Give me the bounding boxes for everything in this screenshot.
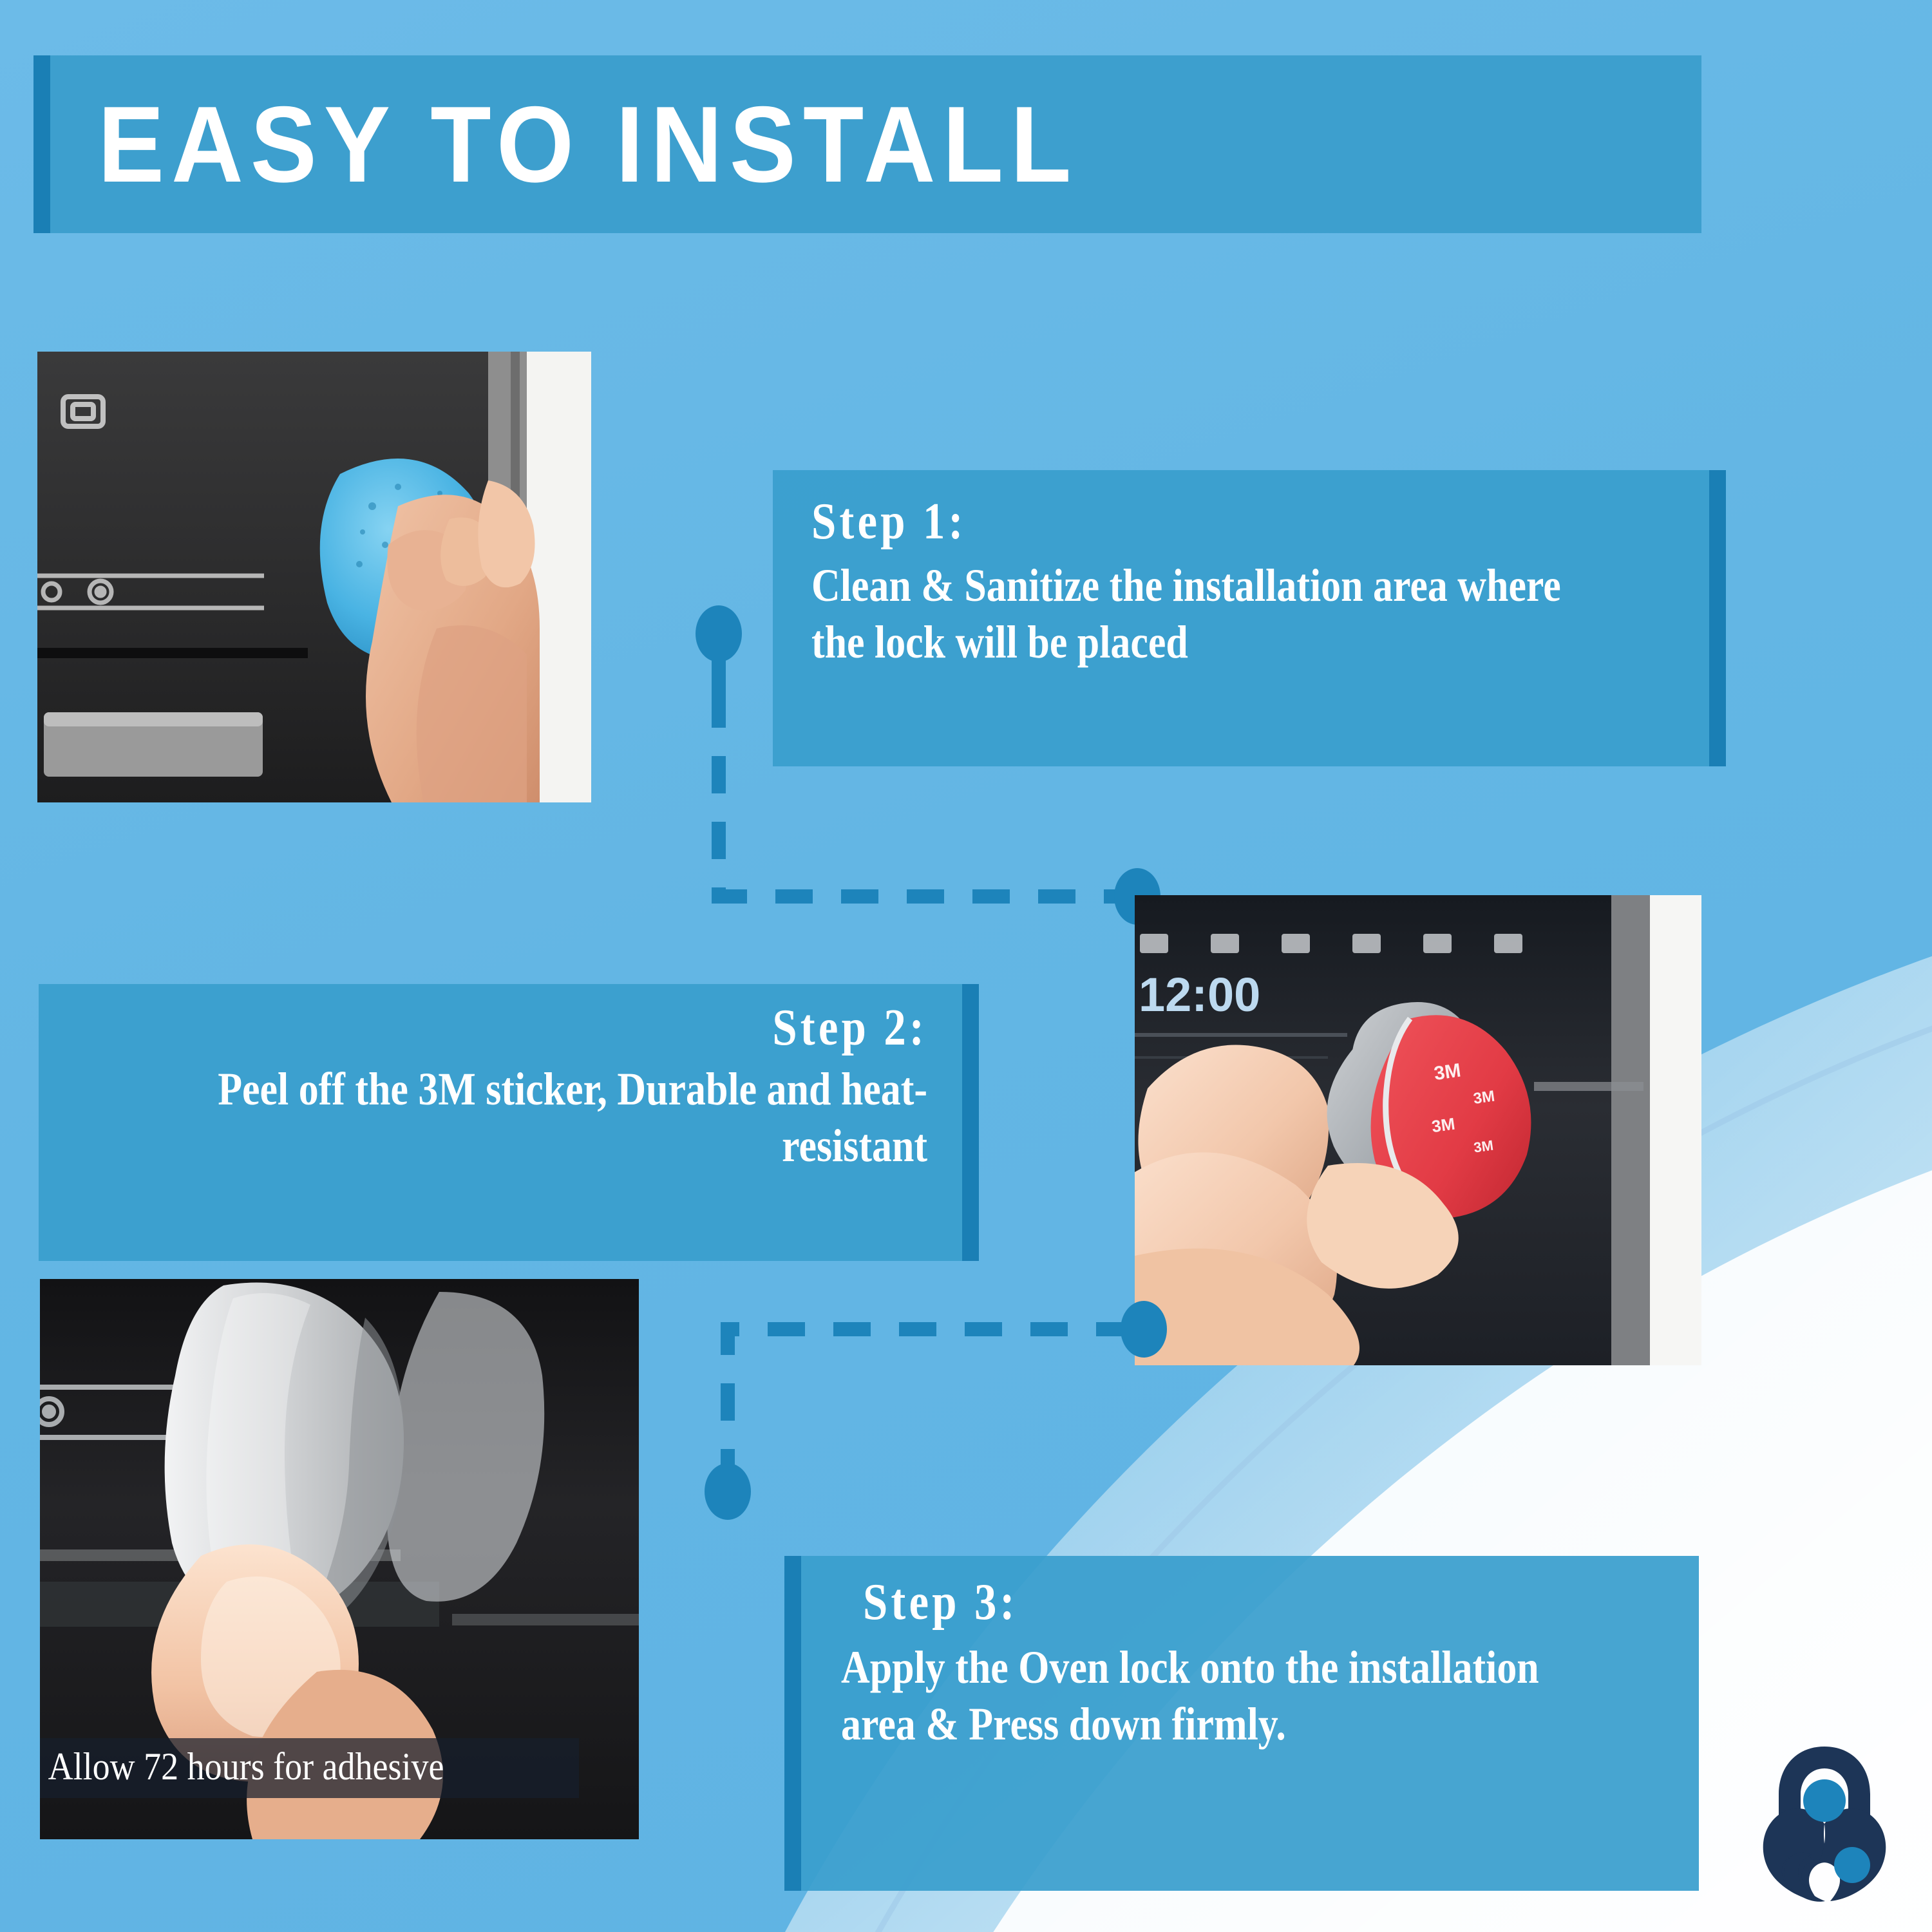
svg-text:3M: 3M xyxy=(1430,1114,1456,1137)
step-1-heading: Step 1: xyxy=(811,495,1565,549)
photo-step-1 xyxy=(37,352,591,802)
photo-step-2: 12:00 3M 3M 3M 3M xyxy=(1135,895,1701,1365)
svg-text:3M: 3M xyxy=(1472,1088,1496,1108)
step-2-body: Peel off the 3M sticker, Durable and hea… xyxy=(185,1061,927,1175)
page-title: EASY TO INSTALL xyxy=(98,90,1078,198)
step-3-box: Step 3: Apply the Oven lock onto the ins… xyxy=(784,1556,1699,1891)
step-2-box: Step 2: Peel off the 3M sticker, Durable… xyxy=(39,984,979,1261)
step-3-heading: Step 3: xyxy=(863,1575,1554,1629)
photo-3-caption: Allow 72 hours for adhesive xyxy=(40,1738,579,1798)
step-3-body: Apply the Oven lock onto the installatio… xyxy=(841,1640,1551,1753)
title-accent-bar xyxy=(33,55,50,233)
padlock-heart-logo-icon xyxy=(1750,1741,1899,1902)
connector-step1-to-step2 xyxy=(683,605,1159,927)
svg-text:3M: 3M xyxy=(1473,1137,1495,1156)
page-title-banner: EASY TO INSTALL xyxy=(33,55,1701,233)
connector-step2-to-step3 xyxy=(683,1301,1172,1520)
photo-step-3: Allow 72 hours for adhesive xyxy=(40,1279,639,1839)
step-2-heading: Step 2: xyxy=(185,1001,927,1055)
svg-text:3M: 3M xyxy=(1433,1060,1463,1084)
svg-text:12:00: 12:00 xyxy=(1139,968,1260,1021)
